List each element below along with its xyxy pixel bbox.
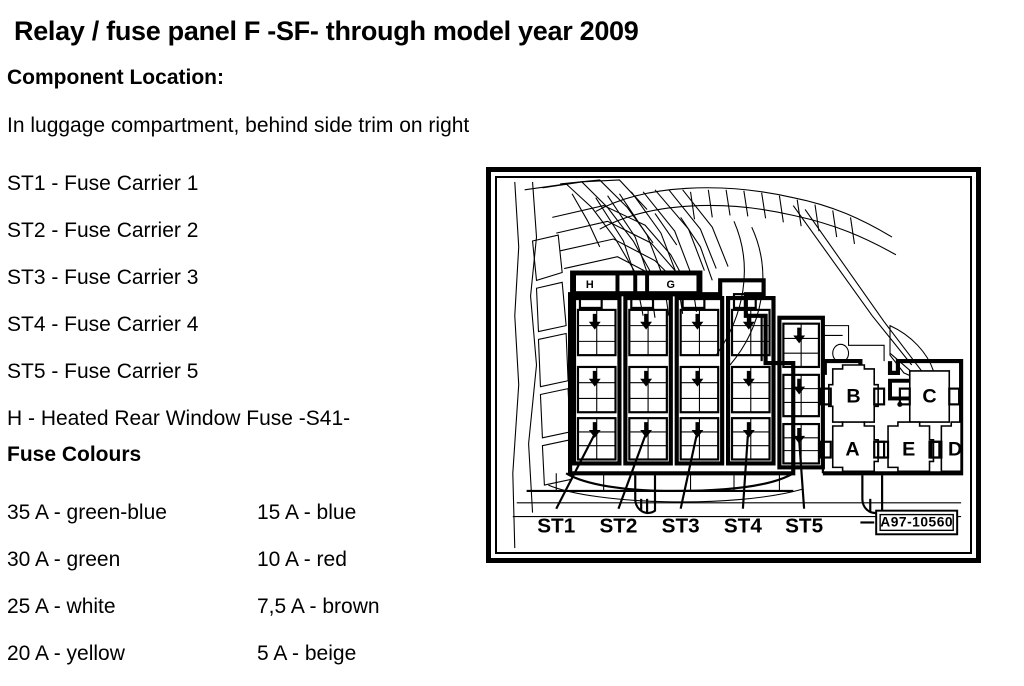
legend-item-h: H - Heated Rear Window Fuse -S41- — [7, 395, 477, 442]
legend-item-st3: ST3 - Fuse Carrier 3 — [7, 254, 477, 301]
callout-st5: ST5 — [785, 514, 823, 537]
colour-cell-right: 7,5 A - brown — [257, 583, 380, 630]
colour-row: 30 A - green 10 A - red — [7, 536, 477, 583]
callout-labels: ST1 ST2 ST3 ST4 ST5 — [537, 514, 823, 537]
colour-cell-left: 35 A - green-blue — [7, 489, 167, 536]
colour-cell-right: 10 A - red — [257, 536, 347, 583]
relay-socket-group: B — [821, 326, 962, 474]
legend-item-st5: ST5 - Fuse Carrier 5 — [7, 348, 477, 395]
legend-item-st4: ST4 - Fuse Carrier 4 — [7, 301, 477, 348]
fuse-panel-illustration: H G — [497, 178, 970, 552]
callout-st3: ST3 — [662, 514, 700, 537]
fuse-colours-heading: Fuse Colours — [7, 443, 141, 467]
fuse-carrier-st3 — [677, 294, 722, 463]
legend-item-st2: ST2 - Fuse Carrier 2 — [7, 207, 477, 254]
page-title: Relay / fuse panel F -SF- through model … — [14, 16, 638, 47]
fuse-colours-table: 35 A - green-blue 15 A - blue 30 A - gre… — [7, 489, 477, 677]
colour-cell-right: 5 A - beige — [257, 630, 356, 677]
fuse-carrier-columns — [574, 294, 823, 467]
relay-socket-d: D — [931, 422, 962, 471]
page-root: Relay / fuse panel F -SF- through model … — [0, 0, 1024, 686]
relay-label-c: C — [922, 385, 936, 407]
colour-cell-left: 25 A - white — [7, 583, 116, 630]
colour-row: 20 A - yellow 5 A - beige — [7, 630, 477, 677]
reference-code-text: A97-10560 — [880, 514, 953, 529]
legend-item-st1: ST1 - Fuse Carrier 1 — [7, 160, 477, 207]
colour-cell-right: 15 A - blue — [257, 489, 356, 536]
colour-row: 35 A - green-blue 15 A - blue — [7, 489, 477, 536]
relay-socket-e: E — [878, 422, 939, 471]
colour-row: 25 A - white 7,5 A - brown — [7, 583, 477, 630]
component-location-heading: Component Location: — [7, 66, 224, 90]
fuse-carrier-st5 — [779, 318, 822, 468]
relay-socket-a: A — [821, 422, 884, 471]
relay-label-d: D — [948, 439, 962, 461]
callout-st2: ST2 — [599, 514, 637, 537]
diagram-frame: H G — [486, 167, 981, 563]
component-location-text: In luggage compartment, behind side trim… — [7, 114, 469, 138]
callout-st4: ST4 — [724, 514, 762, 537]
relay-socket-c: C — [900, 371, 959, 422]
colour-cell-left: 30 A - green — [7, 536, 120, 583]
relay-socket-b: B — [821, 365, 884, 426]
diagram-canvas: H G — [495, 176, 972, 554]
relay-label-a: A — [845, 439, 859, 461]
colour-cell-left: 20 A - yellow — [7, 630, 125, 677]
fuse-carrier-legend: ST1 - Fuse Carrier 1 ST2 - Fuse Carrier … — [7, 160, 477, 442]
callout-st1: ST1 — [537, 514, 575, 537]
label-h: H — [586, 279, 594, 291]
relay-label-b: B — [846, 385, 860, 407]
top-connector-bar: H G — [570, 271, 702, 297]
label-g: G — [667, 279, 675, 291]
fuse-carrier-st2 — [625, 294, 670, 463]
relay-label-e: E — [902, 439, 915, 461]
fuse-carrier-st1 — [574, 294, 619, 463]
